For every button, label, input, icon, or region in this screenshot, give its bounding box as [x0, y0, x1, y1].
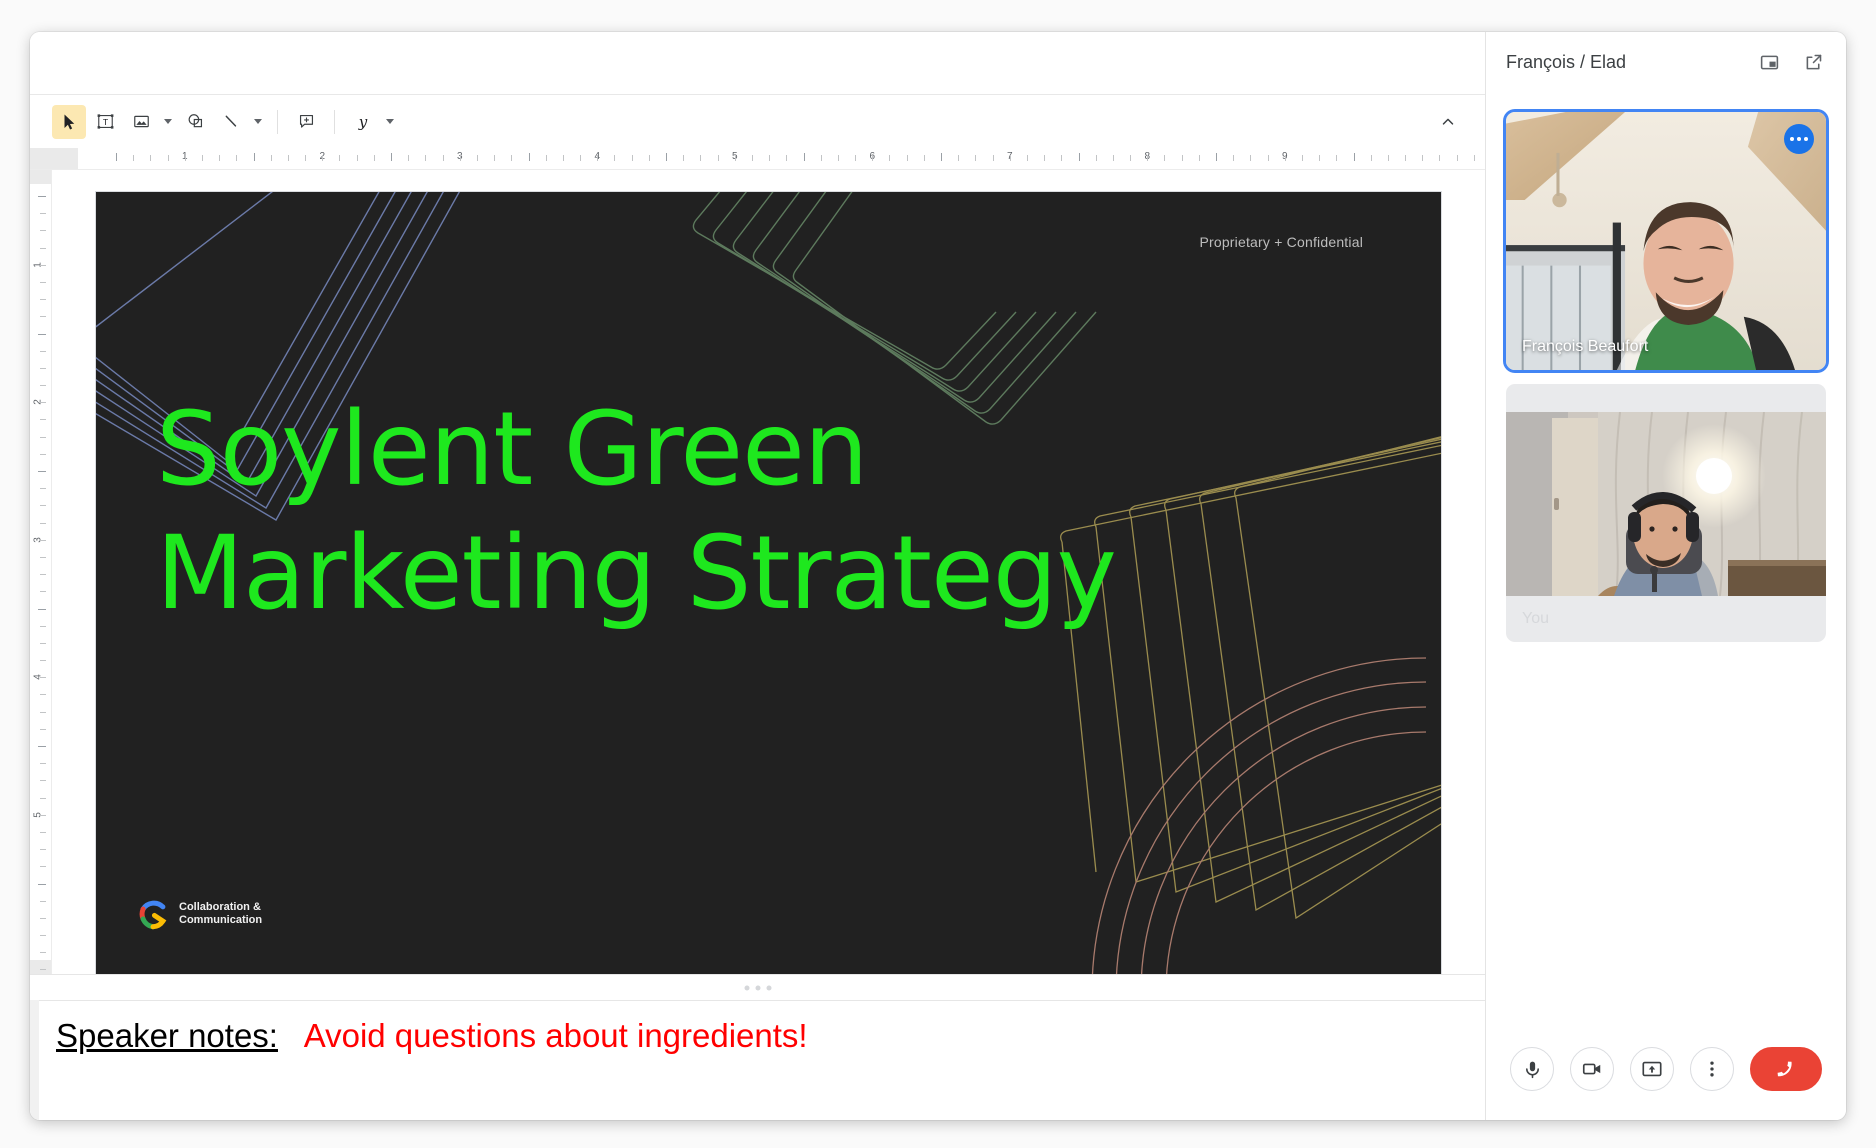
ruler-tick-minor [1439, 155, 1440, 161]
notes-drag-handle[interactable] [744, 985, 771, 990]
ruler-tick-minor [236, 155, 237, 161]
ruler-tick-minor [40, 488, 46, 489]
ruler-tick-minor [752, 155, 753, 161]
ruler-tick-minor [632, 155, 633, 161]
ruler-tick-minor [1044, 155, 1045, 161]
ruler-tick-major [804, 153, 805, 161]
meet-participant-tiles: François Beaufort [1486, 92, 1846, 1028]
ruler-tick-minor [133, 155, 134, 161]
ruler-tick-minor [40, 660, 46, 661]
slide-confidential-label: Proprietary + Confidential [1199, 234, 1363, 250]
toolbar-divider-2 [334, 110, 335, 134]
ruler-tick-major [116, 153, 117, 161]
ruler-tick-minor [40, 935, 46, 936]
ruler-tick-minor [40, 385, 46, 386]
ruler-tick-minor [1268, 155, 1269, 161]
ruler-tick-minor [322, 155, 323, 161]
ruler-tick-minor [40, 866, 46, 867]
ruler-tick-minor [40, 402, 46, 403]
ruler-tick-minor [1130, 155, 1131, 161]
ruler-tick-minor [40, 591, 46, 592]
ruler-tick-minor [769, 155, 770, 161]
meet-panel: François / Elad [1485, 32, 1846, 1120]
open-in-new-icon[interactable] [1796, 45, 1830, 79]
ruler-tick-minor [408, 155, 409, 161]
vertical-ruler-cap-bottom [30, 960, 51, 974]
ruler-tick-minor [40, 780, 46, 781]
ruler-tick-minor [40, 523, 46, 524]
collapse-menus-button[interactable] [1433, 107, 1463, 137]
ruler-tick-minor [40, 952, 46, 953]
ruler-tick-minor [1113, 155, 1114, 161]
handle-dot [755, 985, 760, 990]
speaker-notes-panel[interactable]: Speaker notes: Avoid questions about ing… [30, 1000, 1485, 1120]
ruler-tick-minor [924, 155, 925, 161]
speaker-notes-body: Avoid questions about ingredients! [304, 1017, 808, 1054]
ruler-tick-minor [305, 155, 306, 161]
ruler-tick-minor [40, 901, 46, 902]
ruler-tick-major [666, 153, 667, 161]
ruler-tick-major [38, 334, 46, 335]
meet-call-title: François / Elad [1506, 52, 1742, 73]
ruler-tick-major [529, 153, 530, 161]
ruler-tick-major [941, 153, 942, 161]
ruler-tick-minor [40, 849, 46, 850]
image-tool-chevron-down-icon[interactable] [160, 105, 176, 139]
meet-panel-header: François / Elad [1486, 32, 1846, 92]
svg-text:T: T [102, 117, 108, 127]
toolbar-divider-1 [277, 110, 278, 134]
ruler-tick-minor [357, 155, 358, 161]
ruler-tick-minor [683, 155, 684, 161]
ruler-tick-minor [40, 729, 46, 730]
vertical-ruler-band [30, 170, 51, 974]
ruler-tick-major [1079, 153, 1080, 161]
speaker-notes-text[interactable]: Speaker notes: Avoid questions about ing… [56, 1017, 1459, 1055]
participant-tile[interactable]: You [1506, 384, 1826, 642]
ruler-tick-minor [40, 505, 46, 506]
add-comment-button[interactable] [289, 105, 323, 139]
ruler-tick-minor [339, 155, 340, 161]
ruler-tick-minor [40, 815, 46, 816]
ruler-tick-major [38, 884, 46, 885]
ruler-tick-minor [1147, 155, 1148, 161]
present-screen-icon[interactable] [1630, 1047, 1674, 1091]
ruler-tick-minor [40, 230, 46, 231]
ruler-tick-major [254, 153, 255, 161]
ruler-tick-minor [511, 155, 512, 161]
ruler-tick-minor [546, 155, 547, 161]
participant-video [1506, 412, 1826, 596]
slides-editor: T [30, 32, 1485, 1120]
slide-title[interactable]: Soylent Green Marketing Strategy [156, 388, 1156, 637]
ruler-tick-minor [271, 155, 272, 161]
select-tool-button[interactable] [52, 105, 86, 139]
ruler-tick-minor [889, 155, 890, 161]
picture-in-picture-icon[interactable] [1752, 45, 1786, 79]
vertical-ruler[interactable]: 12345 [30, 170, 52, 974]
ruler-tick-minor [40, 832, 46, 833]
shape-tool-button[interactable] [178, 105, 212, 139]
slide-logo-text: Collaboration & Communication [179, 901, 262, 928]
editor-toolbar: T [30, 94, 1485, 148]
image-tool-button[interactable] [124, 105, 158, 139]
meet-call-controls [1486, 1028, 1846, 1120]
ruler-tick-minor [40, 351, 46, 352]
ruler-tick-minor [288, 155, 289, 161]
ruler-tick-minor [40, 918, 46, 919]
ruler-tick-minor [460, 155, 461, 161]
more-options-icon[interactable] [1690, 1047, 1734, 1091]
ruler-tick-minor [374, 155, 375, 161]
ruler-tick-minor [907, 155, 908, 161]
slide-logo-line-2: Communication [179, 914, 262, 927]
camera-icon[interactable] [1570, 1047, 1614, 1091]
pen-tool-chevron-down-icon[interactable] [382, 105, 398, 139]
ruler-tick-minor [202, 155, 203, 161]
ruler-tick-minor [40, 248, 46, 249]
ruler-tick-major [38, 196, 46, 197]
ruler-tick-minor [563, 155, 564, 161]
ruler-tick-minor [40, 763, 46, 764]
canvas-area: 12345 [30, 170, 1485, 974]
slide-canvas[interactable]: Proprietary + Confidential Soylent Green… [52, 170, 1485, 974]
google-c-logo-icon [136, 897, 170, 931]
dot [1804, 137, 1808, 141]
ruler-tick-minor [1199, 155, 1200, 161]
microphone-icon[interactable] [1510, 1047, 1554, 1091]
participant-video [1506, 112, 1826, 370]
ruler-tick-minor [40, 969, 46, 970]
ruler-tick-minor [40, 798, 46, 799]
ruler-tick-minor [425, 155, 426, 161]
dot [1797, 137, 1801, 141]
ruler-tick-minor [40, 712, 46, 713]
ruler-tick-minor [40, 316, 46, 317]
participant-name: You [1522, 610, 1549, 628]
ruler-tick-minor [735, 155, 736, 161]
ruler-tick-minor [1388, 155, 1389, 161]
horizontal-ruler[interactable]: 123456789 [30, 148, 1485, 170]
ruler-tick-minor [872, 155, 873, 161]
ruler-tick-major [38, 471, 46, 472]
ruler-tick-major [38, 746, 46, 747]
ruler-tick-minor [40, 643, 46, 644]
ruler-tick-minor [494, 155, 495, 161]
ruler-tick-minor [1285, 155, 1286, 161]
ruler-tick-major [38, 609, 46, 610]
ruler-tick-minor [1182, 155, 1183, 161]
ruler-tick-minor [1010, 155, 1011, 161]
ruler-tick-minor [219, 155, 220, 161]
app-window: T [30, 32, 1846, 1120]
ruler-tick-minor [185, 155, 186, 161]
ruler-tick-minor [40, 626, 46, 627]
ruler-tick-minor [40, 265, 46, 266]
ruler-tick-minor [1302, 155, 1303, 161]
ruler-tick-minor [40, 213, 46, 214]
ruler-tick-minor [1422, 155, 1423, 161]
ruler-tick-minor [150, 155, 151, 161]
ruler-tick-minor [1474, 155, 1475, 161]
ruler-tick-minor [40, 540, 46, 541]
editor-top-gap [30, 32, 1485, 94]
ruler-tick-minor [700, 155, 701, 161]
ruler-tick-minor [1336, 155, 1337, 161]
ruler-tick-minor [1319, 155, 1320, 161]
ruler-corner [30, 148, 78, 169]
ruler-tick-minor [40, 368, 46, 369]
ruler-tick-minor [838, 155, 839, 161]
ruler-tick-minor [1457, 155, 1458, 161]
ruler-tick-minor [614, 155, 615, 161]
vertical-ruler-cap-top [30, 170, 51, 184]
ruler-tick-minor [477, 155, 478, 161]
speaker-notes-label: Speaker notes: [56, 1017, 278, 1054]
ruler-tick-minor [1371, 155, 1372, 161]
ruler-tick-minor [168, 155, 169, 161]
ruler-tick-minor [40, 419, 46, 420]
ruler-tick-minor [993, 155, 994, 161]
ruler-tick-minor [580, 155, 581, 161]
current-slide[interactable]: Proprietary + Confidential Soylent Green… [96, 192, 1441, 979]
ruler-tick-minor [821, 155, 822, 161]
line-tool-button[interactable] [214, 105, 248, 139]
ruler-tick-minor [1250, 155, 1251, 161]
ruler-tick-minor [40, 694, 46, 695]
ruler-tick-minor [1061, 155, 1062, 161]
svg-text:y: y [358, 113, 368, 131]
ruler-tick-major [1216, 153, 1217, 161]
ruler-tick-minor [855, 155, 856, 161]
ruler-tick-minor [443, 155, 444, 161]
slide-logo: Collaboration & Communication [136, 897, 262, 931]
pen-tool-button[interactable]: y [346, 105, 380, 139]
ruler-tick-major [1354, 153, 1355, 161]
ruler-tick-minor [1096, 155, 1097, 161]
horizontal-ruler-band [78, 148, 1485, 169]
slide-logo-line-1: Collaboration & [179, 901, 262, 914]
tile-more-options-button[interactable] [1784, 124, 1814, 154]
ruler-tick-minor [649, 155, 650, 161]
dot [1790, 137, 1794, 141]
slide-title-line-2: Marketing Strategy [156, 512, 1156, 636]
notes-resize-divider[interactable] [30, 974, 1485, 1000]
ruler-tick-minor [958, 155, 959, 161]
participant-name: François Beaufort [1522, 338, 1648, 356]
ruler-tick-minor [975, 155, 976, 161]
ruler-tick-minor [40, 299, 46, 300]
participant-tile[interactable]: François Beaufort [1506, 112, 1826, 370]
ruler-tick-minor [40, 282, 46, 283]
handle-dot [766, 985, 771, 990]
ruler-tick-major [391, 153, 392, 161]
textbox-tool-button[interactable]: T [88, 105, 122, 139]
ruler-tick-minor [40, 677, 46, 678]
ruler-tick-minor [1027, 155, 1028, 161]
ruler-tick-minor [1405, 155, 1406, 161]
handle-dot [744, 985, 749, 990]
ruler-tick-minor [1164, 155, 1165, 161]
hangup-button[interactable] [1750, 1047, 1822, 1091]
ruler-tick-minor [597, 155, 598, 161]
slide-title-line-1: Soylent Green [156, 388, 1156, 512]
ruler-tick-minor [718, 155, 719, 161]
line-tool-chevron-down-icon[interactable] [250, 105, 266, 139]
ruler-tick-minor [786, 155, 787, 161]
ruler-tick-minor [40, 557, 46, 558]
ruler-tick-minor [40, 437, 46, 438]
ruler-tick-minor [40, 454, 46, 455]
ruler-tick-minor [1233, 155, 1234, 161]
ruler-tick-minor [40, 574, 46, 575]
